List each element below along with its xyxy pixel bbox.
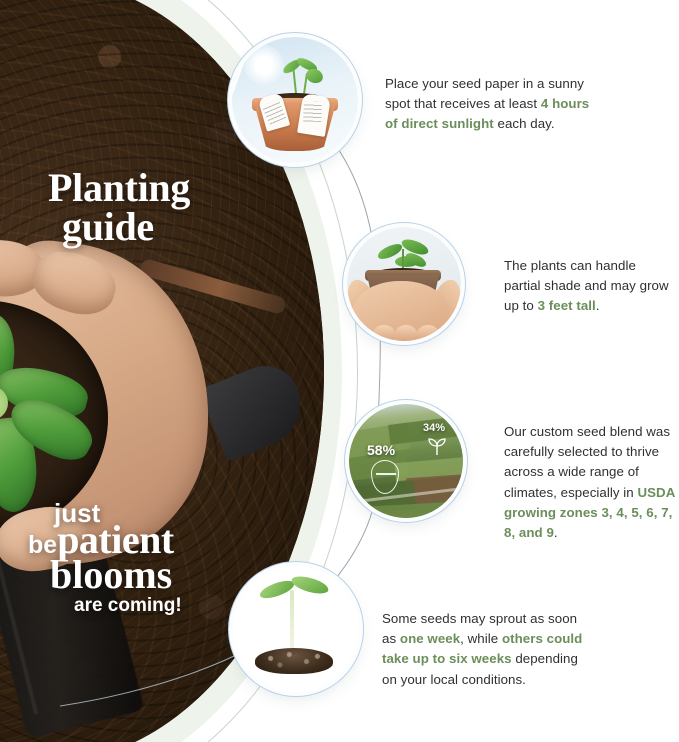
moisture-percent-label: 58% <box>367 442 395 458</box>
hero-caption: just bepatient blooms are coming! <box>28 500 228 615</box>
step-image-height <box>347 227 461 341</box>
body-text: each day. <box>494 116 555 131</box>
planting-guide-poster: Planting guide just bepatient blooms are… <box>0 0 679 742</box>
step-text-germination: Some seeds may sprout as soon as one wee… <box>382 609 590 690</box>
step-text-sunlight: Place your seed paper in a sunny spot th… <box>385 74 593 135</box>
step-image-germination <box>233 566 359 692</box>
caption-are-coming: are coming! <box>74 596 228 615</box>
highlight-text: 3 feet tall <box>538 298 596 313</box>
step-image-zones: 58% 34% <box>349 404 463 518</box>
sun-icon <box>244 45 284 85</box>
sprout-stem <box>290 590 294 652</box>
caption-blooms: blooms <box>50 557 228 594</box>
body-text: . <box>596 298 600 313</box>
sprout-icon <box>425 436 449 456</box>
page-title: Planting guide <box>48 168 190 246</box>
step-text-zones: Our custom seed blend was carefully sele… <box>504 422 676 543</box>
highlight-text: one week <box>400 631 460 646</box>
step-text-height: The plants can handle partial shade and … <box>504 256 674 317</box>
title-line-2: guide <box>62 207 190 246</box>
step-image-sunlight <box>232 37 358 163</box>
secondary-percent-label: 34% <box>423 422 445 434</box>
body-text: . <box>554 525 558 540</box>
body-text: , while <box>460 631 502 646</box>
